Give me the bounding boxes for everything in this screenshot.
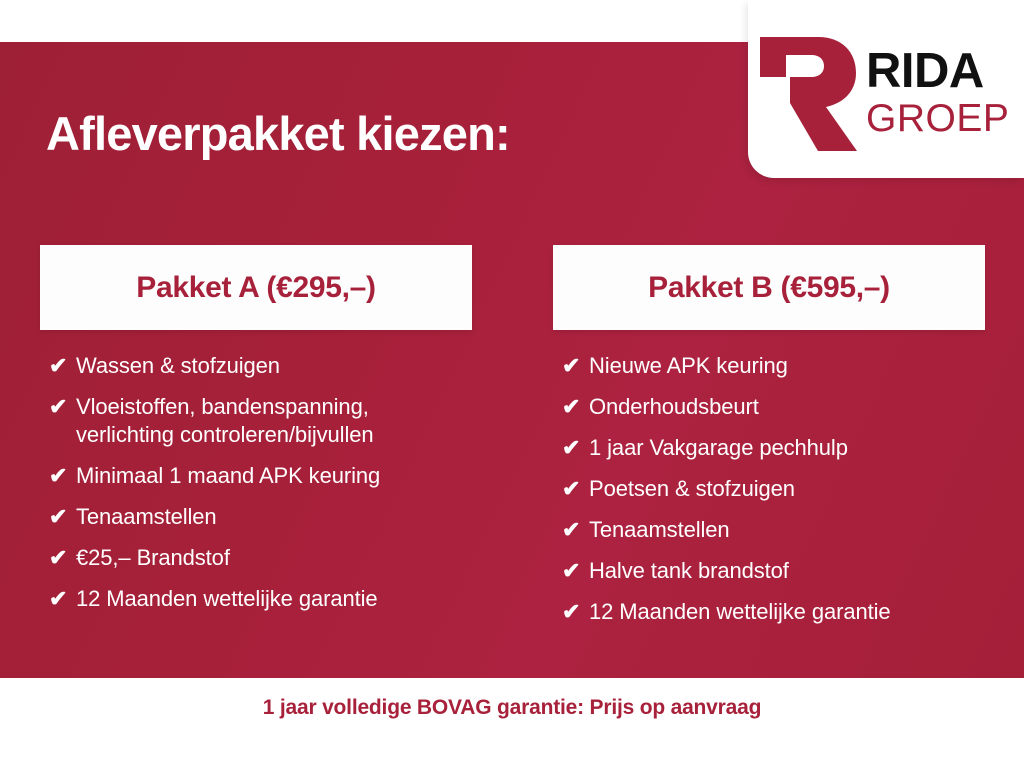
feature-label: 12 Maanden wettelijke garantie bbox=[76, 585, 378, 613]
check-icon: ✔ bbox=[557, 598, 589, 625]
check-icon: ✔ bbox=[44, 544, 76, 571]
list-item: ✔ Poetsen & stofzuigen bbox=[557, 475, 985, 503]
package-a-feature-list: ✔ Wassen & stofzuigen ✔ Vloeistoffen, ba… bbox=[40, 330, 472, 613]
list-item: ✔ Onderhoudsbeurt bbox=[557, 393, 985, 421]
package-b-feature-list: ✔ Nieuwe APK keuring ✔ Onderhoudsbeurt ✔… bbox=[553, 330, 985, 626]
page-title: Afleverpakket kiezen: bbox=[46, 106, 510, 161]
check-icon: ✔ bbox=[557, 475, 589, 502]
check-icon: ✔ bbox=[557, 393, 589, 420]
package-column-b: Pakket B (€595,–) ✔ Nieuwe APK keuring ✔… bbox=[553, 245, 985, 639]
footer-note: 1 jaar volledige BOVAG garantie: Prijs o… bbox=[263, 696, 761, 720]
feature-label: Vloeistoffen, bandenspanning, verlichtin… bbox=[76, 393, 472, 449]
package-column-a: Pakket A (€295,–) ✔ Wassen & stofzuigen … bbox=[40, 245, 472, 639]
slide-canvas: RIDA GROEP Afleverpakket kiezen: Pakket … bbox=[0, 0, 1024, 768]
packages-container: Pakket A (€295,–) ✔ Wassen & stofzuigen … bbox=[0, 245, 1024, 639]
brand-name-primary: RIDA bbox=[866, 47, 1009, 96]
list-item: ✔ Vloeistoffen, bandenspanning, verlicht… bbox=[44, 393, 472, 449]
package-b-title: Pakket B (€595,–) bbox=[648, 271, 890, 305]
list-item: ✔ 1 jaar Vakgarage pechhulp bbox=[557, 434, 985, 462]
list-item: ✔ Tenaamstellen bbox=[44, 503, 472, 531]
feature-label: Tenaamstellen bbox=[589, 516, 730, 544]
feature-label: Wassen & stofzuigen bbox=[76, 352, 280, 380]
check-icon: ✔ bbox=[44, 585, 76, 612]
check-icon: ✔ bbox=[44, 352, 76, 379]
brand-logo-card: RIDA GROEP bbox=[748, 0, 1024, 178]
list-item: ✔ Halve tank brandstof bbox=[557, 557, 985, 585]
list-item: ✔ Nieuwe APK keuring bbox=[557, 352, 985, 380]
check-icon: ✔ bbox=[557, 434, 589, 461]
list-item: ✔ Wassen & stofzuigen bbox=[44, 352, 472, 380]
feature-label: Halve tank brandstof bbox=[589, 557, 789, 585]
stylized-r-logo-icon bbox=[756, 33, 860, 153]
check-icon: ✔ bbox=[44, 462, 76, 489]
package-b-header-card: Pakket B (€595,–) bbox=[553, 245, 985, 330]
footer-band: 1 jaar volledige BOVAG garantie: Prijs o… bbox=[0, 678, 1024, 768]
package-a-title: Pakket A (€295,–) bbox=[136, 271, 376, 305]
feature-label: Onderhoudsbeurt bbox=[589, 393, 759, 421]
feature-label: 1 jaar Vakgarage pechhulp bbox=[589, 434, 848, 462]
list-item: ✔ 12 Maanden wettelijke garantie bbox=[44, 585, 472, 613]
list-item: ✔ Tenaamstellen bbox=[557, 516, 985, 544]
feature-label: Tenaamstellen bbox=[76, 503, 217, 531]
brand-name-secondary: GROEP bbox=[866, 99, 1009, 138]
check-icon: ✔ bbox=[44, 503, 76, 530]
check-icon: ✔ bbox=[44, 393, 76, 420]
feature-label: Minimaal 1 maand APK keuring bbox=[76, 462, 380, 490]
feature-label: Poetsen & stofzuigen bbox=[589, 475, 795, 503]
check-icon: ✔ bbox=[557, 557, 589, 584]
check-icon: ✔ bbox=[557, 352, 589, 379]
feature-label: €25,– Brandstof bbox=[76, 544, 230, 572]
brand-wordmark: RIDA GROEP bbox=[866, 47, 1009, 138]
check-icon: ✔ bbox=[557, 516, 589, 543]
feature-label: Nieuwe APK keuring bbox=[589, 352, 788, 380]
list-item: ✔ 12 Maanden wettelijke garantie bbox=[557, 598, 985, 626]
list-item: ✔ Minimaal 1 maand APK keuring bbox=[44, 462, 472, 490]
feature-label: 12 Maanden wettelijke garantie bbox=[589, 598, 891, 626]
package-a-header-card: Pakket A (€295,–) bbox=[40, 245, 472, 330]
list-item: ✔ €25,– Brandstof bbox=[44, 544, 472, 572]
